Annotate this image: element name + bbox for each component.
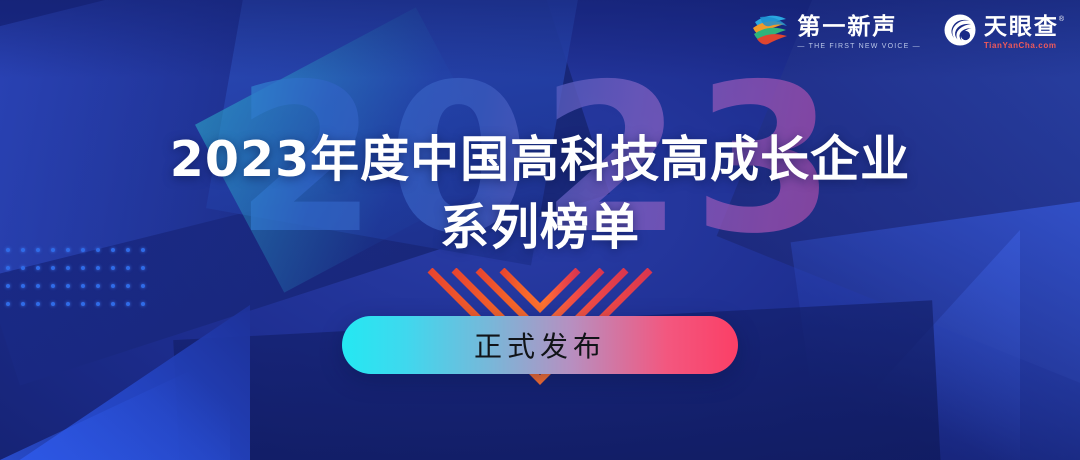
release-status-label: 正式发布 — [474, 325, 606, 365]
tianyancha-name: 天眼查 — [984, 16, 1059, 39]
grid-dot — [51, 302, 55, 306]
dot-grid-decoration — [6, 248, 156, 320]
tianyancha-text: 天眼查 ® TianYanCha.com — [984, 16, 1064, 50]
grid-dot — [141, 284, 145, 288]
grid-dot — [81, 302, 85, 306]
grid-dot — [111, 266, 115, 270]
grid-dot — [66, 302, 70, 306]
grid-dot — [111, 284, 115, 288]
grid-dot — [51, 266, 55, 270]
release-status-pill[interactable]: 正式发布 — [342, 316, 738, 374]
grid-dot — [36, 266, 40, 270]
grid-dot — [81, 266, 85, 270]
grid-dot — [6, 284, 10, 288]
logo-tianyancha[interactable]: 天眼查 ® TianYanCha.com — [943, 13, 1064, 52]
grid-dot — [96, 266, 100, 270]
diyixinsheng-name: 第一新声 — [797, 16, 920, 39]
grid-dot — [81, 284, 85, 288]
title-line-2: 系列榜单 — [0, 201, 1080, 255]
grid-dot — [21, 302, 25, 306]
grid-dot — [141, 302, 145, 306]
grid-dot — [21, 266, 25, 270]
tianyancha-aperture-icon — [943, 13, 977, 52]
grid-dot — [126, 284, 130, 288]
grid-dot — [96, 302, 100, 306]
title-line-1: 2023年度中国高科技高成长企业 — [0, 133, 1080, 187]
grid-dot — [21, 284, 25, 288]
grid-dot — [6, 302, 10, 306]
diyixinsheng-ribbon-icon — [750, 13, 790, 52]
grid-dot — [6, 266, 10, 270]
grid-dot — [141, 266, 145, 270]
promo-banner: 2023 — [0, 0, 1080, 460]
diyixinsheng-tagline: — THE FIRST NEW VOICE — — [797, 43, 920, 50]
logo-diyixinsheng[interactable]: 第一新声 — THE FIRST NEW VOICE — — [750, 13, 920, 52]
grid-dot — [126, 302, 130, 306]
diyixinsheng-text: 第一新声 — THE FIRST NEW VOICE — — [797, 16, 920, 50]
logo-bar: 第一新声 — THE FIRST NEW VOICE — 天眼查 ® — [750, 13, 1064, 52]
registered-trademark-icon: ® — [1059, 16, 1064, 23]
tianyancha-domain: TianYanCha.com — [984, 42, 1064, 50]
tianyancha-name-wrap: 天眼查 ® — [984, 16, 1064, 39]
title-block: 2023年度中国高科技高成长企业 系列榜单 — [0, 133, 1080, 255]
grid-dot — [36, 302, 40, 306]
grid-dot — [66, 284, 70, 288]
grid-dot — [111, 302, 115, 306]
grid-dot — [96, 284, 100, 288]
grid-dot — [126, 266, 130, 270]
grid-dot — [51, 284, 55, 288]
grid-dot — [36, 284, 40, 288]
grid-dot — [66, 266, 70, 270]
